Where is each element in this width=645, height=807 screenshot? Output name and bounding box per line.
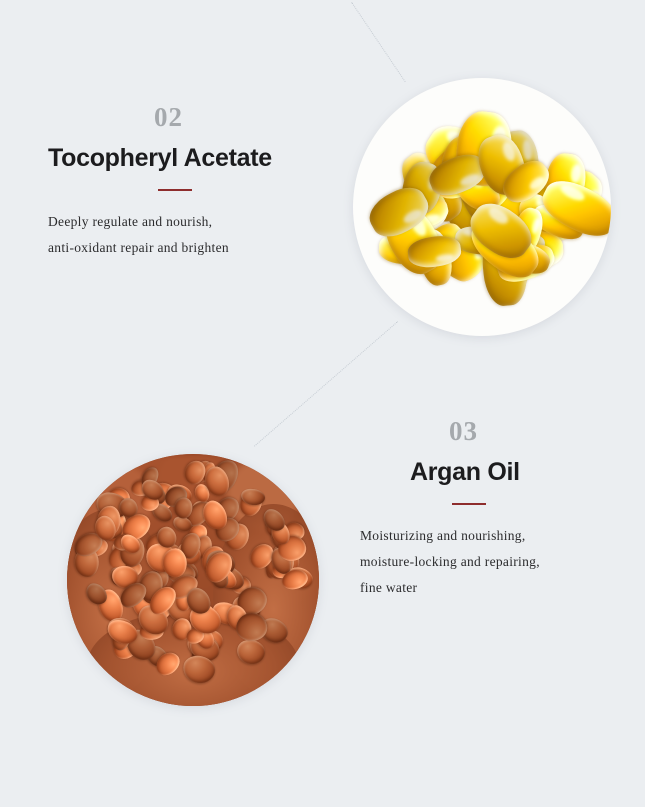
description-line: Deeply regulate and nourish, (48, 209, 338, 235)
description-line: fine water (360, 575, 612, 601)
capsule-cluster (353, 78, 611, 336)
section-block-03: 03 Argan Oil Moisturizing and nourishing… (360, 418, 612, 601)
description-line: anti-oxidant repair and brighten (48, 235, 338, 261)
kernel-cluster (67, 454, 319, 706)
description-line: Moisturizing and nourishing, (360, 523, 612, 549)
argan-kernel (235, 638, 267, 667)
capsules-photo (353, 78, 611, 336)
dotted-connector-top (351, 2, 406, 82)
section-description-02: Deeply regulate and nourish, anti-oxidan… (48, 209, 338, 262)
description-line: moisture-locking and repairing, (360, 549, 612, 575)
section-number-02: 02 (154, 104, 338, 131)
section-number-03: 03 (449, 418, 612, 445)
section-title-02: Tocopheryl Acetate (48, 145, 338, 173)
section-block-02: 02 Tocopheryl Acetate Deeply regulate an… (48, 104, 338, 261)
section-description-03: Moisturizing and nourishing, moisture-lo… (360, 523, 612, 602)
accent-rule-02 (158, 189, 192, 191)
accent-rule-03 (452, 503, 486, 505)
section-title-03: Argan Oil (410, 459, 612, 487)
infographic-canvas: 02 Tocopheryl Acetate Deeply regulate an… (0, 0, 645, 807)
argan-nuts-photo (67, 454, 319, 706)
argan-kernel (235, 613, 267, 642)
